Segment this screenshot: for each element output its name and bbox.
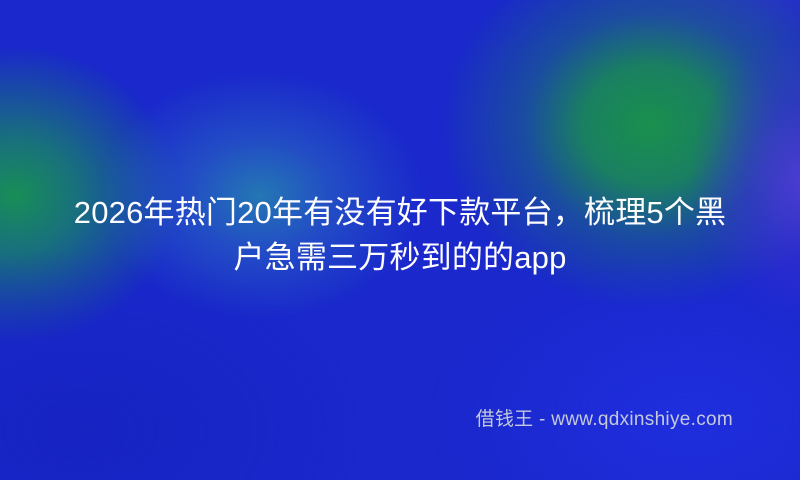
background-blob-dark-bottom-left	[0, 250, 360, 480]
headline-line-2: 户急需三万秒到的的app	[0, 235, 800, 280]
headline-text: 2026年热门20年有没有好下款平台，梳理5个黑 户急需三万秒到的的app	[0, 190, 800, 280]
headline-line-1: 2026年热门20年有没有好下款平台，梳理5个黑	[0, 190, 800, 235]
watermark-credit: 借钱王 - www.qdxinshiye.com	[476, 407, 733, 433]
background-blob-violet-right	[690, 30, 800, 330]
background-blob-top-right-tint	[560, 0, 800, 120]
banner-image: 2026年热门20年有没有好下款平台，梳理5个黑 户急需三万秒到的的app 借钱…	[0, 0, 800, 480]
background-blob-blue-bottom	[430, 250, 800, 480]
